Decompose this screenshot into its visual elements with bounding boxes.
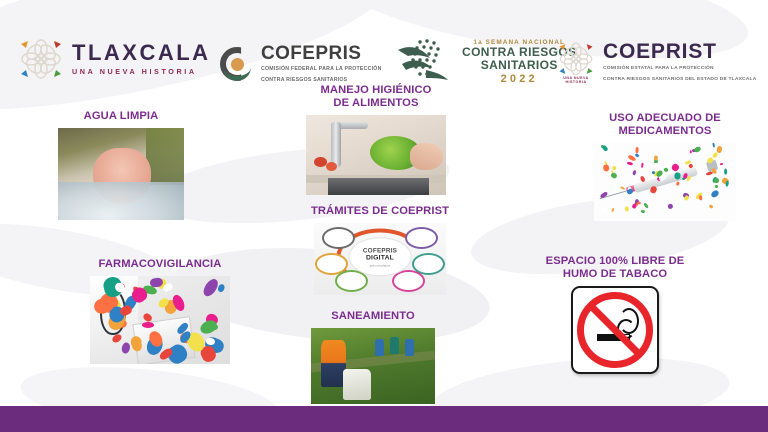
pill-shape [633,170,638,176]
semana-line3: SANITARIOS [481,59,558,72]
pill-shape [693,146,702,154]
no-smoking-sign-icon [571,286,659,374]
cofepris-c-mark-icon [220,47,254,81]
topic-farmacovigilancia[interactable]: FARMACOVIGILANCIA [70,258,250,364]
topic-manejo-higienico-alimentos[interactable]: MANEJO HIGIÉNICO DE ALIMENTOS [300,84,452,195]
logo-semana-nacional: 1a SEMANA NACIONAL CONTRA RIESGOS SANITA… [396,34,577,90]
topic-agua-limpia[interactable]: AGUA LIMPIA [55,110,187,220]
coeprist-subtitle-line2: CONTRA RIESGOS SANITARIOS DEL ESTADO DE … [603,76,756,83]
cofepris-digital-diagram: COFEPRIS DIGITAL gob.mx/cofepris [314,223,446,295]
topic-label: ESPACIO 100% LIBRE DE HUMO DE TABACO [546,255,685,281]
logo-tlaxcala: TLAXCALA UNA NUEVA HISTORIA [18,36,211,82]
rosette-flower-icon [18,36,64,82]
topic-label: FARMACOVIGILANCIA [99,258,222,271]
pill-shape [668,203,674,209]
diagram-center-line3: gob.mx/cofepris [370,263,390,267]
cofepris-subtitle-line1: COMISIÓN FEDERAL PARA LA PROTECCIÓN [261,66,382,74]
diagram-node [405,227,438,249]
sanitation-photo [311,328,435,404]
topic-label: AGUA LIMPIA [84,110,159,123]
pill-shape [714,178,720,184]
pill-shape [676,181,680,186]
logo-coeprist: UNA NUEVA HISTORIA COEPRIST COMISIÓN EST… [556,40,756,84]
eagle-icon [396,34,458,90]
tlaxcala-tagline: UNA NUEVA HISTORIA [72,67,211,76]
pill-shape [689,151,691,154]
tlaxcala-wordmark: TLAXCALA [72,42,211,64]
pill-shape [641,162,644,167]
topic-tramites-coeprist[interactable]: TRÁMITES DE COEPRIST COFEPRIS DIGITAL go… [300,205,460,295]
topic-label: TRÁMITES DE COEPRIST [311,205,449,218]
pill-shape [649,185,657,193]
pill-shape [627,161,633,165]
logo-cofepris: COFEPRIS COMISIÓN FEDERAL PARA LA PROTEC… [220,44,382,84]
pill-shape [674,172,681,179]
pill-shape [624,206,629,212]
topic-saneamiento[interactable]: SANEAMIENTO [298,310,448,404]
diagram-center-line1: COFEPRIS [363,247,397,254]
pill-shape [601,207,605,212]
medications-photo [594,143,736,221]
rosette-flower-icon: UNA NUEVA HISTORIA [556,40,596,84]
pill-shape [603,163,610,171]
coeprist-brandline: UNA NUEVA HISTORIA [556,76,596,84]
pill-shape [714,185,717,188]
food-handling-photo [306,115,446,195]
pill-shape [635,148,638,154]
diagram-center-label: COFEPRIS DIGITAL gob.mx/cofepris [349,237,412,276]
topic-label: SANEAMIENTO [331,310,415,323]
pill-shape [712,143,715,148]
topic-espacio-libre-humo-tabaco[interactable]: ESPACIO 100% LIBRE DE HUMO DE TABACO [520,255,710,374]
pill-shape [708,204,713,209]
pill-shape [612,165,617,171]
cofepris-subtitle-line2: CONTRA RIESGOS SANITARIOS [261,77,382,85]
diagram-center-line2: DIGITAL [366,254,394,261]
pill-shape [611,208,614,212]
diagram-node [322,227,355,249]
coeprist-subtitle-line1: COMISIÓN ESTATAL PARA LA PROTECCIÓN [603,65,756,72]
topic-label: USO ADECUADO DE MEDICAMENTOS [609,112,721,138]
cofepris-wordmark: COFEPRIS [261,44,382,63]
pill-shape [637,204,640,208]
pill-shape [710,189,720,198]
bottom-accent-bar [0,406,768,432]
pill-shape [725,180,729,187]
logo-header-strip: TLAXCALA UNA NUEVA HISTORIA COFEPRIS COM… [0,14,768,84]
pill-shape [724,169,727,175]
clean-water-photo [58,128,184,220]
pill-shape [602,144,609,151]
coeprist-wordmark: COEPRIST [603,41,756,62]
diagram-node [392,270,425,292]
pharmacovigilance-photo [90,276,230,364]
pill-shape [683,195,689,201]
pill-shape [615,178,622,182]
pill-shape [641,209,645,213]
pill-shape [720,163,724,166]
topic-uso-adecuado-medicamentos[interactable]: USO ADECUADO DE MEDICAMENTOS [570,112,760,221]
pill-shape [699,195,703,200]
pill-shape [682,178,685,181]
slide-canvas: TLAXCALA UNA NUEVA HISTORIA COFEPRIS COM… [0,0,768,432]
pill-shape [654,160,658,163]
pill-shape [643,202,649,209]
pill-shape [142,322,154,328]
semana-year: 2022 [501,73,538,85]
